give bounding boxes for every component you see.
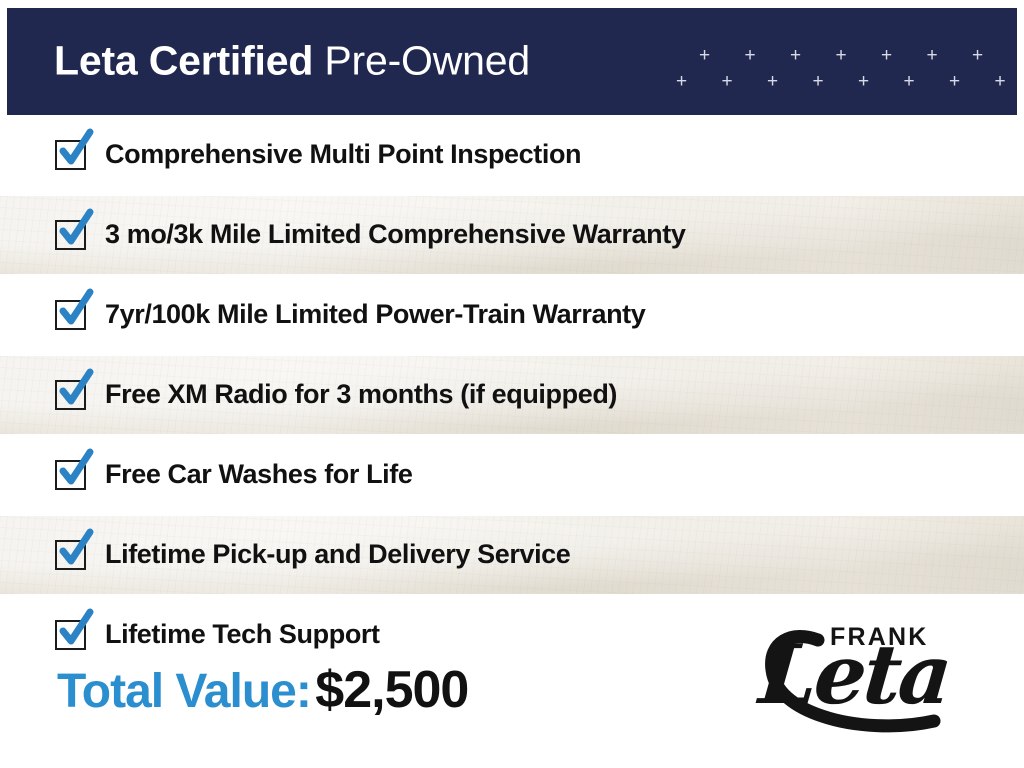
checkbox-checked-icon[interactable] [55, 218, 87, 250]
benefit-label: Comprehensive Multi Point Inspection [105, 141, 581, 168]
checkmark-icon [57, 451, 93, 491]
total-value-label: Total Value: [57, 665, 311, 718]
plus-glyph: + [881, 46, 892, 65]
benefit-item[interactable]: Free XM Radio for 3 months (if equipped) [55, 378, 617, 410]
header-band: Leta Certified Pre-Owned +++++++++++++++ [7, 8, 1017, 115]
plus-glyph: + [927, 46, 938, 65]
certified-pre-owned-poster: Leta Certified Pre-Owned +++++++++++++++… [0, 0, 1024, 768]
benefit-item[interactable]: 7yr/100k Mile Limited Power-Train Warran… [55, 298, 645, 330]
plus-glyph: + [790, 46, 801, 65]
plus-glyph: + [767, 72, 778, 91]
benefit-item[interactable]: Lifetime Pick-up and Delivery Service [55, 538, 570, 570]
checkbox-checked-icon[interactable] [55, 138, 87, 170]
benefit-label: 3 mo/3k Mile Limited Comprehensive Warra… [105, 221, 685, 248]
plus-glyph: + [972, 46, 983, 65]
checkbox-checked-icon[interactable] [55, 378, 87, 410]
checkbox-checked-icon[interactable] [55, 298, 87, 330]
plus-glyph: + [745, 46, 756, 65]
page-title-light: Pre-Owned [313, 37, 530, 83]
frank-leta-logo: FRANK Leta [762, 618, 962, 743]
page-title-bold: Leta Certified [54, 37, 313, 83]
benefit-label: 7yr/100k Mile Limited Power-Train Warran… [105, 301, 645, 328]
benefit-item[interactable]: Free Car Washes for Life [55, 458, 413, 490]
benefit-item[interactable]: 3 mo/3k Mile Limited Comprehensive Warra… [55, 218, 685, 250]
logo-leta-word: Leta [756, 634, 952, 716]
plus-glyph: + [836, 46, 847, 65]
benefit-item[interactable]: Comprehensive Multi Point Inspection [55, 138, 581, 170]
checkmark-icon [57, 131, 93, 171]
plus-glyph: + [904, 72, 915, 91]
checkbox-checked-icon[interactable] [55, 458, 87, 490]
plus-glyph: + [699, 46, 710, 65]
total-value: Total Value: $2,500 [57, 664, 468, 716]
checkmark-icon [57, 611, 93, 651]
checkmark-icon [57, 211, 93, 251]
checkbox-checked-icon[interactable] [55, 538, 87, 570]
checkmark-icon [57, 531, 93, 571]
plus-glyph: + [949, 72, 960, 91]
benefit-label: Lifetime Tech Support [105, 621, 380, 648]
benefit-label: Lifetime Pick-up and Delivery Service [105, 541, 570, 568]
checkbox-checked-icon[interactable] [55, 618, 87, 650]
plus-glyph: + [722, 72, 733, 91]
total-value-amount: $2,500 [315, 661, 468, 719]
plus-glyph: + [813, 72, 824, 91]
benefit-label: Free Car Washes for Life [105, 461, 413, 488]
plus-glyph: + [995, 72, 1006, 91]
plus-glyph: + [676, 72, 687, 91]
checkmark-icon [57, 291, 93, 331]
plus-pattern-decoration: +++++++++++++++ [675, 42, 1005, 102]
page-title: Leta Certified Pre-Owned [54, 40, 530, 81]
plus-glyph: + [858, 72, 869, 91]
checkmark-icon [57, 371, 93, 411]
benefit-item[interactable]: Lifetime Tech Support [55, 618, 380, 650]
benefit-label: Free XM Radio for 3 months (if equipped) [105, 381, 617, 408]
